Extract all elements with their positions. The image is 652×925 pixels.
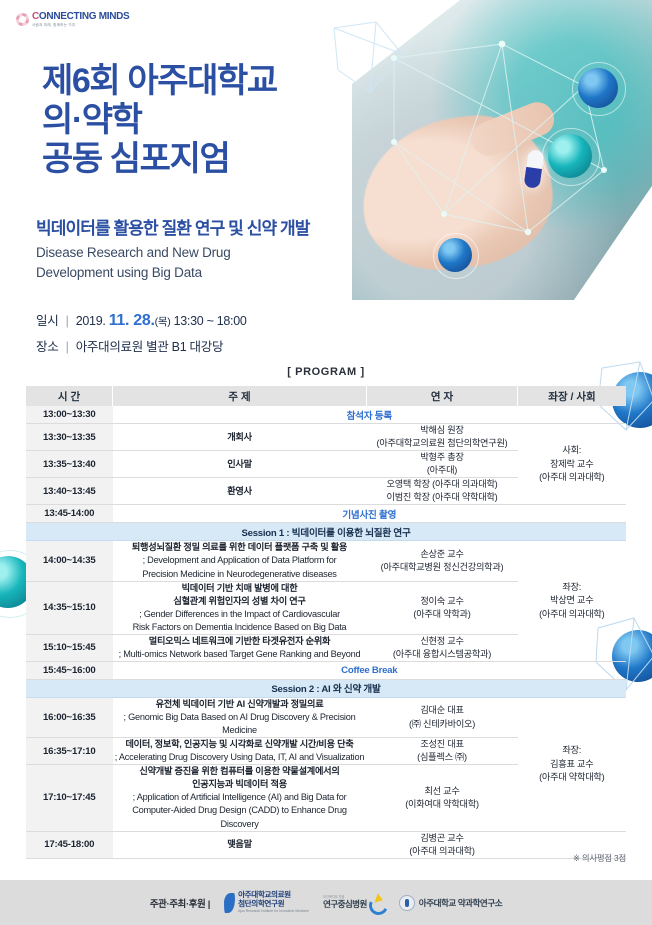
program-label: [ PROGRAM ] bbox=[0, 366, 652, 378]
swoosh-icon bbox=[224, 893, 235, 913]
cell-topic: 환영사 bbox=[113, 478, 367, 505]
logo-pharm-institute: 아주대학교 약과학연구소 bbox=[399, 895, 502, 911]
cell-speaker: 김대순 대표(㈜ 신테카바이오) bbox=[367, 697, 518, 737]
cell-chair: 좌장:김흥표 교수(아주대 약학대학) bbox=[518, 697, 627, 831]
credit-note: ※ 의사평점 3점 bbox=[573, 852, 626, 864]
date-time: 13:30 ~ 18:00 bbox=[174, 314, 247, 328]
logo-research-hospital: 보건복지부 지정 연구중심병원 bbox=[323, 894, 385, 912]
cell-speaker: 손상준 교수(아주대학교병원 정신건강의학과) bbox=[367, 541, 518, 581]
logo1-subtext: Ajou Research Institute for Innovative M… bbox=[238, 910, 309, 914]
seal-icon bbox=[399, 895, 415, 911]
cell-topic: 개회사 bbox=[113, 424, 367, 451]
cell-time: 15:10~15:45 bbox=[26, 634, 113, 661]
table-row: 13:30~13:35개회사박해심 원장(아주대학교의료원 첨단의학연구원)사회… bbox=[26, 424, 626, 451]
column-header-3: 연 자 bbox=[367, 386, 518, 406]
cell-speaker: 신현정 교수(아주대 융합시스템공학과) bbox=[367, 634, 518, 661]
meta-divider-2: | bbox=[66, 340, 69, 354]
column-header-1: 시 간 bbox=[26, 386, 113, 406]
event-place-row: 장소 | 아주대의료원 별관 B1 대강당 bbox=[36, 336, 247, 359]
subtitle-en-line-1: Disease Research and New Drug bbox=[36, 243, 231, 263]
subtitle-korean: 빅데이터를 활용한 질환 연구 및 신약 개발 bbox=[36, 214, 310, 239]
subtitle-english: Disease Research and New Drug Developmen… bbox=[36, 243, 231, 284]
cell-time: 13:35~13:40 bbox=[26, 451, 113, 478]
cell-topic: 멀티오믹스 네트워크에 기반한 타겟유전자 순위화; Multi-omics N… bbox=[113, 634, 367, 661]
cell-time: 16:00~16:35 bbox=[26, 697, 113, 737]
session-header-row: Session 1 : 빅데이터를 이용한 뇌질환 연구 bbox=[26, 523, 626, 541]
event-meta: 일시 | 2019. 11. 28.(목) 13:30 ~ 18:00 장소 |… bbox=[36, 306, 247, 359]
cell-speaker: 정이숙 교수(아주대 약학과) bbox=[367, 581, 518, 634]
cell-time: 15:45~16:00 bbox=[26, 661, 113, 679]
date-dayofweek: (목) bbox=[155, 316, 171, 328]
logo-ajou-research-institute: 아주대학교의료원 첨단의학연구원 Ajou Research Institute… bbox=[224, 891, 309, 913]
cell-time: 16:35~17:10 bbox=[26, 738, 113, 765]
table-row: 16:00~16:35유전체 빅데이터 기반 AI 신약개발과 정밀의료; Ge… bbox=[26, 697, 626, 737]
date-year: 2019. bbox=[76, 314, 106, 328]
connecting-minds-logo: CONNECTING MINDS 사람과 미래, 함께하는 가치 bbox=[16, 12, 129, 28]
cell-fullwidth-text: 기념사진 촬영 bbox=[113, 505, 627, 523]
cell-speaker: 김병곤 교수(아주대 의과대학) bbox=[367, 831, 518, 858]
cell-speaker: 최선 교수(이화여대 약학대학) bbox=[367, 765, 518, 831]
sphere-ring-3 bbox=[433, 233, 479, 279]
cell-time: 14:35~15:10 bbox=[26, 581, 113, 634]
column-header-4: 좌장 / 사회 bbox=[518, 386, 627, 406]
cell-speaker: 조성진 대표(심플렉스 ㈜) bbox=[367, 738, 518, 765]
cell-speaker: 박형주 총장(아주대) bbox=[367, 451, 518, 478]
cell-topic: 빅데이터 기반 치매 발병에 대한심혈관계 위험인자의 성별 차이 연구; Ge… bbox=[113, 581, 367, 634]
cell-speaker: 박해심 원장(아주대학교의료원 첨단의학연구원) bbox=[367, 424, 518, 451]
page-title: 제6회 아주대학교 의·약학 공동 심포지엄 bbox=[42, 62, 277, 178]
subtitle-en-line-2: Development using Big Data bbox=[36, 263, 231, 283]
sphere-ring-2 bbox=[542, 128, 600, 186]
logo2-text: 연구중심병원 bbox=[323, 900, 367, 909]
gear-icon bbox=[16, 13, 29, 26]
program-table-header: 시 간주 제연 자좌장 / 사회 bbox=[26, 386, 626, 406]
logo1-line2: 첨단의학연구원 bbox=[238, 900, 309, 909]
cell-time: 13:30~13:35 bbox=[26, 424, 113, 451]
table-row: 14:00~14:35퇴행성뇌질환 정밀 의료를 위한 데이터 플랫폼 구축 및… bbox=[26, 541, 626, 581]
title-line-3: 공동 심포지엄 bbox=[42, 140, 277, 179]
place-label: 장소 bbox=[36, 340, 58, 354]
decor-network-topleft bbox=[330, 18, 410, 108]
cell-time: 13:40~13:45 bbox=[26, 478, 113, 505]
cell-topic: 유전체 빅데이터 기반 AI 신약개발과 정밀의료; Genomic Big D… bbox=[113, 697, 367, 737]
footer-bar: 주관·주최·후원 | 아주대학교의료원 첨단의학연구원 Ajou Researc… bbox=[0, 880, 652, 925]
session-title: Session 2 : AI 와 신약 개발 bbox=[26, 679, 626, 697]
brand-tagline: 사람과 미래, 함께하는 가치 bbox=[32, 24, 129, 28]
title-line-2: 의·약학 bbox=[42, 101, 277, 140]
poster-root: CONNECTING MINDS 사람과 미래, 함께하는 가치 제6회 아주대… bbox=[0, 0, 652, 925]
sponsor-label: 주관·주최·후원 | bbox=[150, 896, 210, 910]
cell-speaker: 오영택 학장 (아주대 의과대학)이범진 학장 (아주대 약학대학) bbox=[367, 478, 518, 505]
cell-fullwidth-text: Coffee Break bbox=[113, 661, 627, 679]
place-value: 아주대의료원 별관 B1 대강당 bbox=[76, 340, 223, 354]
event-date-row: 일시 | 2019. 11. 28.(목) 13:30 ~ 18:00 bbox=[36, 306, 247, 336]
cell-topic: 데이터, 정보학, 인공지능 및 시각화로 신약개발 시간/비용 단축; Acc… bbox=[113, 738, 367, 765]
cell-time: 13:00~13:30 bbox=[26, 406, 113, 424]
meta-divider-1: | bbox=[66, 314, 69, 328]
date-monthday: 11. 28. bbox=[109, 312, 155, 329]
cell-fullwidth-text: 참석자 등록 bbox=[113, 406, 627, 424]
table-row: 15:45~16:00Coffee Break bbox=[26, 661, 626, 679]
cell-topic: 퇴행성뇌질환 정밀 의료를 위한 데이터 플랫폼 구축 및 활용; Develo… bbox=[113, 541, 367, 581]
session-header-row: Session 2 : AI 와 신약 개발 bbox=[26, 679, 626, 697]
cell-topic: 인사말 bbox=[113, 451, 367, 478]
cell-time: 17:10~17:45 bbox=[26, 765, 113, 831]
table-row: 17:45-18:00맺음말김병곤 교수(아주대 의과대학) bbox=[26, 831, 626, 858]
title-line-1: 제6회 아주대학교 bbox=[42, 62, 277, 101]
table-row: 13:45-14:00기념사진 촬영 bbox=[26, 505, 626, 523]
date-label: 일시 bbox=[36, 314, 58, 328]
cell-time: 13:45-14:00 bbox=[26, 505, 113, 523]
cell-topic: 신약개발 증진을 위한 컴퓨터를 이용한 약물설계에서의인공지능과 빅데이터 적… bbox=[113, 765, 367, 831]
cell-topic: 맺음말 bbox=[113, 831, 367, 858]
logo3-text: 아주대학교 약과학연구소 bbox=[419, 897, 502, 909]
table-row: 13:00~13:30참석자 등록 bbox=[26, 406, 626, 424]
research-hospital-mark-icon bbox=[369, 894, 385, 912]
column-header-2: 주 제 bbox=[113, 386, 367, 406]
cell-chair: 좌장:박상면 교수(아주대 의과대학) bbox=[518, 541, 627, 662]
cell-time: 17:45-18:00 bbox=[26, 831, 113, 858]
cell-time: 14:00~14:35 bbox=[26, 541, 113, 581]
session-title: Session 1 : 빅데이터를 이용한 뇌질환 연구 bbox=[26, 523, 626, 541]
sphere-ring-1 bbox=[572, 62, 626, 116]
brand-name: CONNECTING MINDS bbox=[32, 12, 129, 22]
program-table: 시 간주 제연 자좌장 / 사회13:00~13:30참석자 등록13:30~1… bbox=[26, 386, 626, 859]
cell-chair: 사회:장제락 교수(아주대 의과대학) bbox=[518, 424, 627, 505]
